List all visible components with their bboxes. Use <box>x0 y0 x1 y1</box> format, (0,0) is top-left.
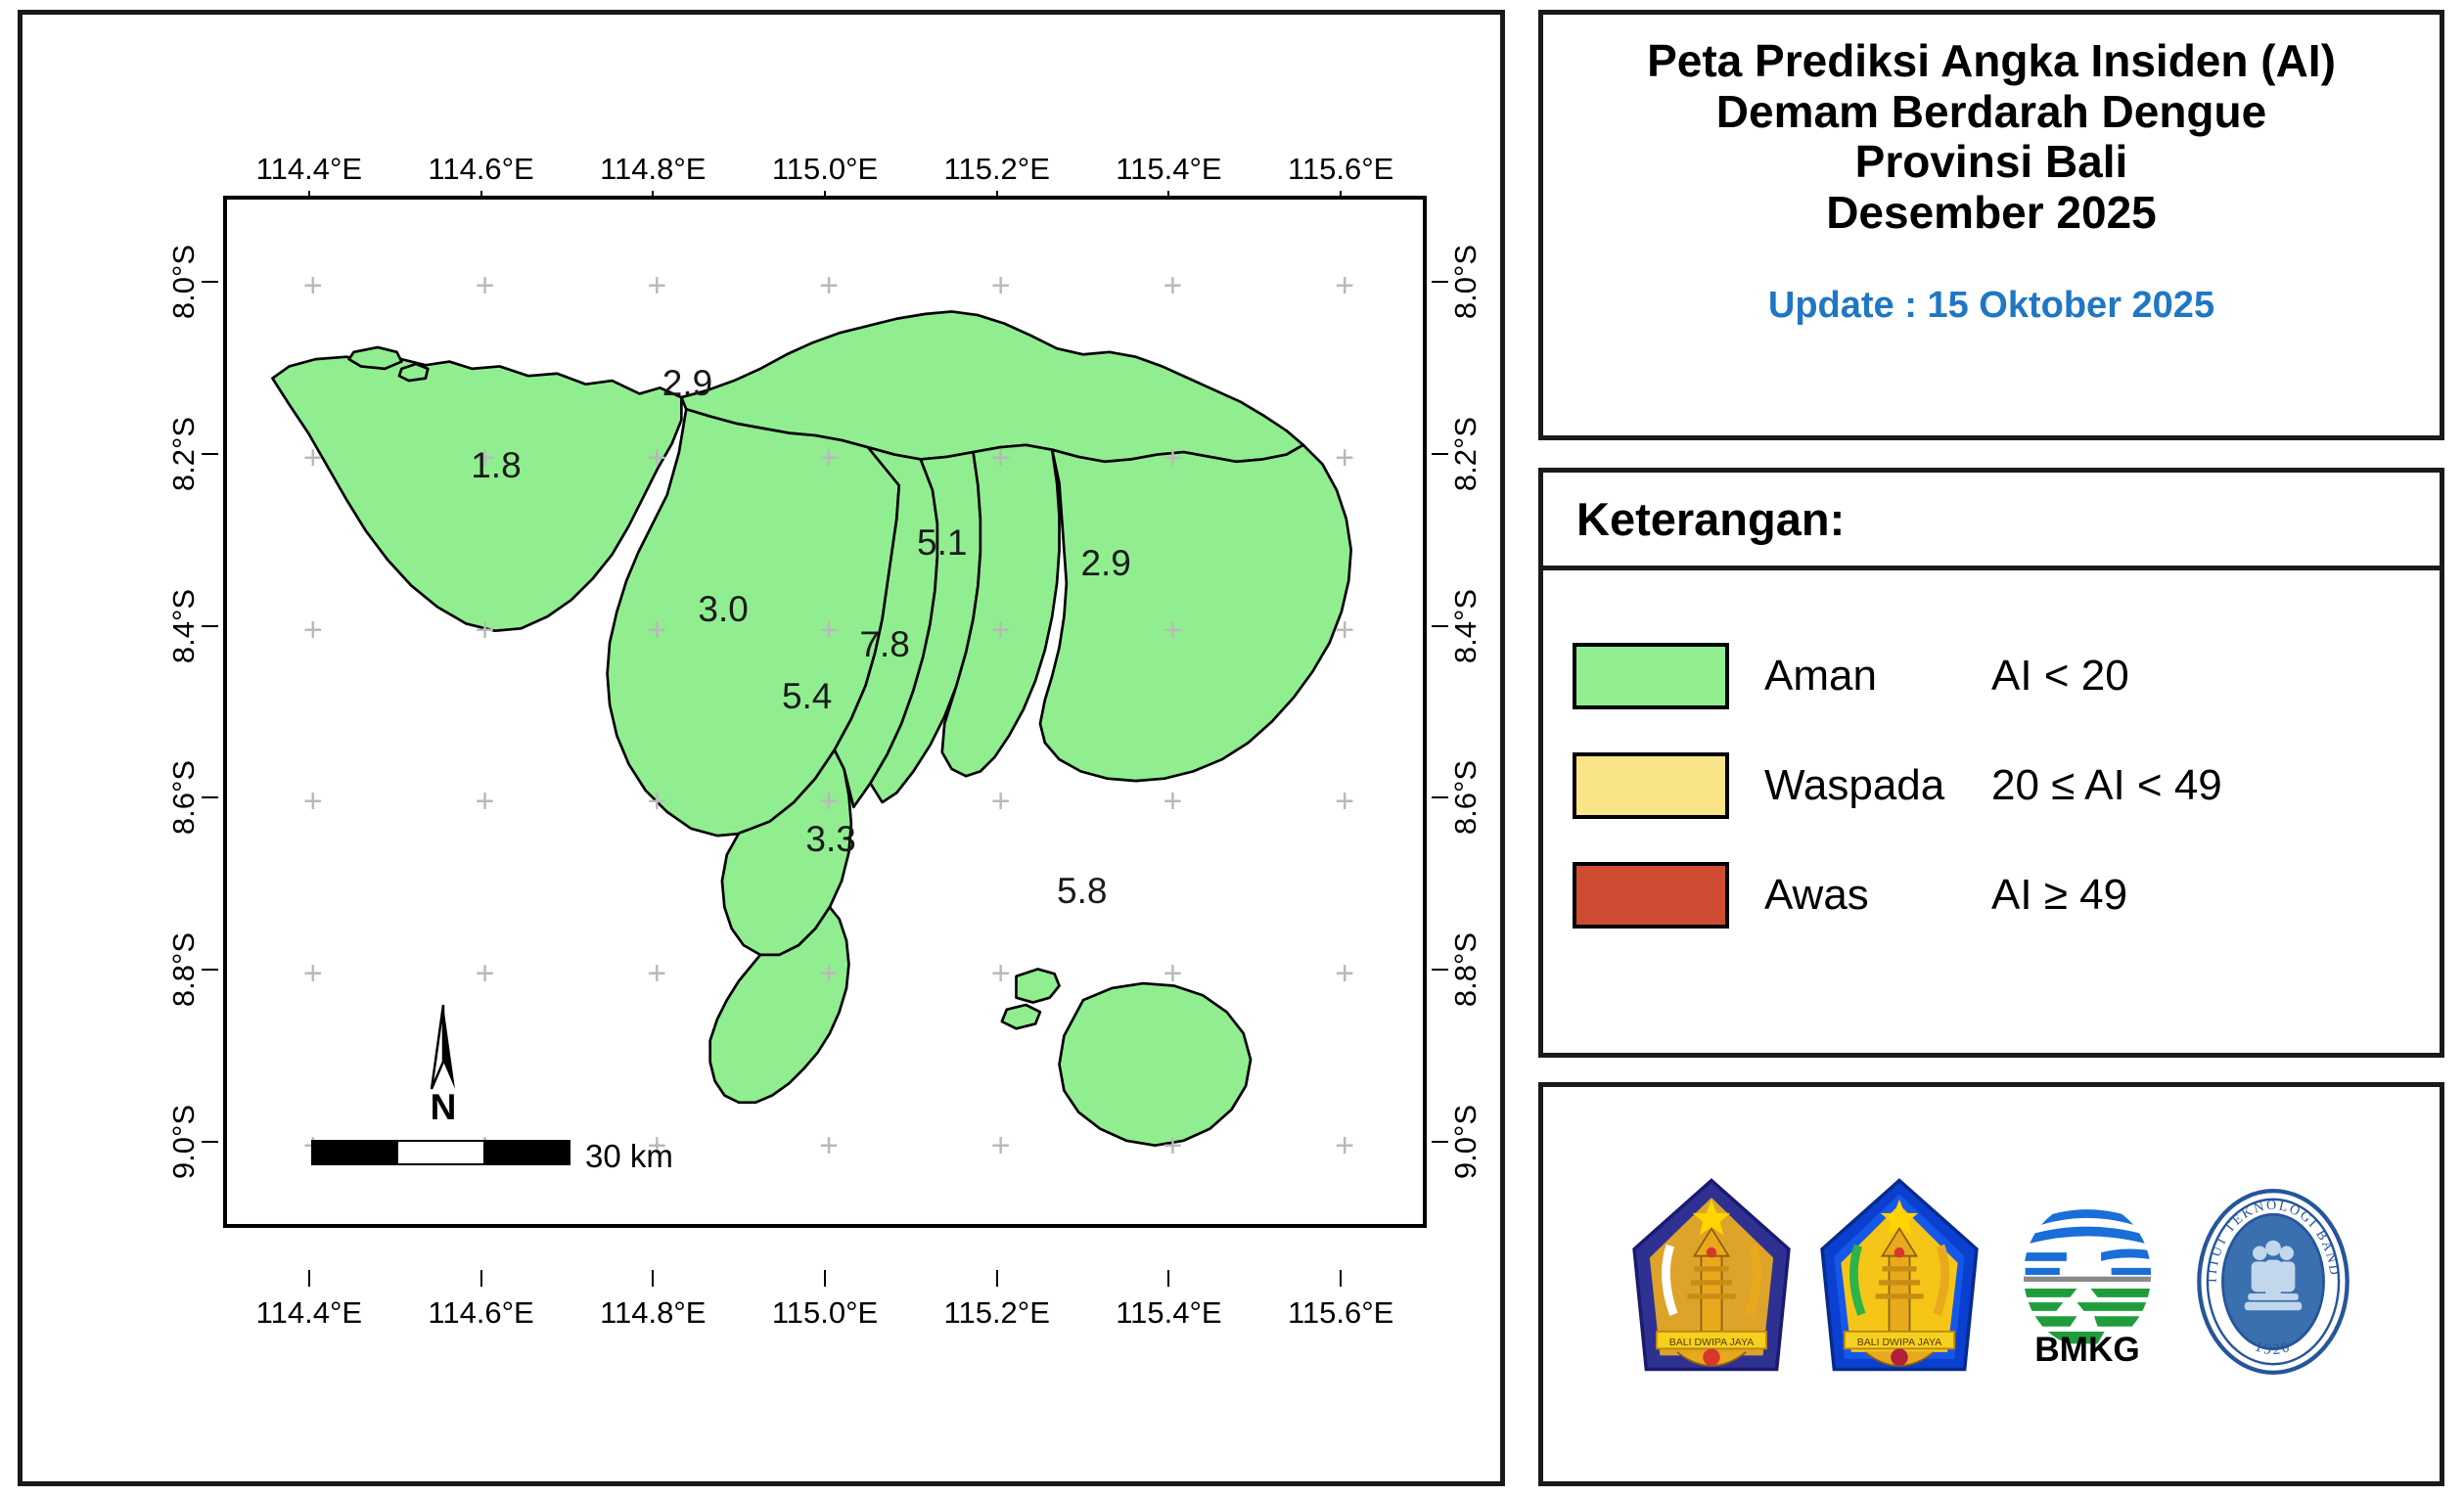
lon-tick-label: 114.6°E <box>428 152 533 187</box>
region-value-label: 2.9 <box>1080 543 1130 584</box>
lat-tick <box>202 796 218 798</box>
bali-emblem-icon: BALI DWIPA JAYA <box>1625 1177 1798 1386</box>
legend-row: Waspada20 ≤ AI < 49 <box>1573 731 2440 840</box>
lon-tick <box>824 1270 826 1287</box>
lat-tick <box>202 281 218 283</box>
scale-bar-segment <box>313 1142 398 1163</box>
north-arrow-icon <box>409 1003 478 1093</box>
lon-tick-label: 115.0°E <box>772 1295 878 1331</box>
north-arrow-label: N <box>431 1087 457 1128</box>
lat-tick <box>202 969 218 971</box>
lon-tick <box>480 1270 482 1287</box>
legend-threshold-label: AI ≥ 49 <box>1991 871 2127 920</box>
page-title-line-3: Provinsi Bali <box>1855 137 2128 188</box>
legend-class-label: Aman <box>1764 652 1991 701</box>
bali-emblem-icon: BALI DWIPA JAYA <box>1813 1177 1985 1386</box>
latitude-axis-left: 8.0°S8.2°S8.4°S8.6°S8.8°S9.0°S <box>150 196 218 1228</box>
region-value-label: 7.8 <box>859 624 909 665</box>
logo-box: BALI DWIPA JAYA <box>1538 1082 2444 1486</box>
lon-tick-label: 114.8°E <box>600 152 706 187</box>
region-nusa-penida <box>1060 983 1252 1146</box>
title-box: Peta Prediksi Angka Insiden (AI) Demam B… <box>1538 10 2444 440</box>
lat-tick-label: 8.6°S <box>166 760 202 835</box>
lat-tick-label: 8.8°S <box>1448 932 1483 1007</box>
logo-bmkg: BMKG <box>2001 1199 2173 1370</box>
lon-tick-label: 115.4°E <box>1116 152 1221 187</box>
region-karangasem <box>1040 445 1351 781</box>
legend-heading-text: Keterangan: <box>1576 492 1845 546</box>
legend-items: AmanAI < 20Waspada20 ≤ AI < 49AwasAI ≥ 4… <box>1543 570 2440 950</box>
lon-tick <box>652 1270 654 1287</box>
page-title-line-2: Demam Berdarah Dengue <box>1716 87 2266 138</box>
region-value-label: 2.9 <box>662 363 712 404</box>
lat-tick <box>1432 969 1448 971</box>
dengue-incidence-map-page: 114.4°E114.6°E114.8°E115.0°E115.2°E115.4… <box>0 0 2464 1496</box>
lon-tick-label: 115.4°E <box>1116 1295 1221 1331</box>
page-title-line-4: Desember 2025 <box>1826 188 2157 239</box>
region-value-label: 5.8 <box>1057 871 1107 912</box>
legend-class-label: Waspada <box>1764 761 1991 810</box>
update-timestamp: Update : 15 Oktober 2025 <box>1768 285 2214 327</box>
lon-tick <box>996 1270 998 1287</box>
lat-tick-label: 8.2°S <box>1448 417 1483 491</box>
lat-tick-label: 8.0°S <box>1448 245 1483 319</box>
lat-tick-label: 8.8°S <box>166 932 202 1007</box>
lat-tick <box>202 1141 218 1143</box>
lat-tick <box>1432 453 1448 455</box>
region-nusa-ceningan <box>1002 1005 1040 1028</box>
latitude-axis-right: 8.0°S8.2°S8.4°S8.6°S8.8°S9.0°S <box>1432 196 1500 1228</box>
lon-tick-label: 115.2°E <box>944 152 1050 187</box>
longitude-axis-bottom: 114.4°E114.6°E114.8°E115.0°E115.2°E115.4… <box>223 1270 1427 1313</box>
legend-color-swatch <box>1573 862 1729 929</box>
lon-tick-label: 115.0°E <box>772 152 878 187</box>
north-arrow: N <box>409 1003 478 1130</box>
legend-class-label: Awas <box>1764 871 1991 920</box>
legend-row: AmanAI < 20 <box>1573 621 2440 731</box>
logo-pemprov-bali-2: BALI DWIPA JAYA <box>1813 1177 1985 1391</box>
legend-color-swatch <box>1573 752 1729 819</box>
lon-tick-label: 114.8°E <box>600 1295 706 1331</box>
lat-tick <box>1432 1141 1448 1143</box>
region-value-label: 5.4 <box>782 676 832 717</box>
lat-tick-label: 8.4°S <box>166 588 202 662</box>
region-nusa-lembongan <box>1017 969 1060 1002</box>
legend-color-swatch <box>1573 643 1729 709</box>
lon-tick-label: 114.4°E <box>256 1295 362 1331</box>
region-value-label: 3.0 <box>698 589 748 630</box>
lat-tick-label: 9.0°S <box>1448 1105 1483 1179</box>
region-value-label: 1.8 <box>471 445 521 486</box>
lat-tick <box>1432 796 1448 798</box>
svg-text:BALI DWIPA JAYA: BALI DWIPA JAYA <box>1669 1337 1755 1348</box>
region-value-label: 3.3 <box>805 819 855 860</box>
scale-bar-segment <box>483 1142 569 1163</box>
svg-text:BALI DWIPA JAYA: BALI DWIPA JAYA <box>1857 1337 1942 1348</box>
page-title-line-1: Peta Prediksi Angka Insiden (AI) <box>1647 36 2336 87</box>
lon-tick-label: 115.6°E <box>1288 152 1393 187</box>
legend-row: AwasAI ≥ 49 <box>1573 840 2440 950</box>
itb-seal-icon: INSTITUT TEKNOLOGI BANDUNG · 1920 · <box>2189 1186 2357 1378</box>
lat-tick-label: 8.6°S <box>1448 760 1483 835</box>
lat-tick <box>202 453 218 455</box>
legend-threshold-label: AI < 20 <box>1991 652 2129 701</box>
legend-threshold-label: 20 ≤ AI < 49 <box>1991 761 2222 810</box>
lon-tick-label: 115.6°E <box>1288 1295 1393 1331</box>
lon-tick-label: 115.2°E <box>944 1295 1050 1331</box>
info-column: Peta Prediksi Angka Insiden (AI) Demam B… <box>1538 10 2444 1486</box>
lon-tick <box>1340 1270 1342 1287</box>
logo-pemprov-bali-1: BALI DWIPA JAYA <box>1625 1177 1798 1391</box>
bmkg-wordmark: BMKG <box>2034 1331 2140 1365</box>
longitude-axis-top: 114.4°E114.6°E114.8°E115.0°E115.2°E115.4… <box>223 152 1427 191</box>
lat-tick <box>202 625 218 627</box>
lat-tick-label: 9.0°S <box>166 1105 202 1179</box>
lat-tick-label: 8.2°S <box>166 417 202 491</box>
region-value-label: 5.1 <box>917 522 967 564</box>
logo-itb: INSTITUT TEKNOLOGI BANDUNG · 1920 · <box>2189 1186 2357 1383</box>
lon-tick-label: 114.6°E <box>428 1295 533 1331</box>
bmkg-icon: BMKG <box>2001 1199 2173 1365</box>
lon-tick-label: 114.4°E <box>256 152 362 187</box>
lat-tick <box>1432 625 1448 627</box>
scale-bar <box>311 1140 570 1165</box>
lon-tick <box>1167 1270 1169 1287</box>
legend-box: Keterangan: AmanAI < 20Waspada20 ≤ AI < … <box>1538 468 2444 1058</box>
scale-bar-label: 30 km <box>585 1138 673 1175</box>
lat-tick <box>1432 281 1448 283</box>
region-jembrana <box>272 357 681 631</box>
lat-tick-label: 8.4°S <box>1448 588 1483 662</box>
lon-tick <box>308 1270 310 1287</box>
map-panel: 114.4°E114.6°E114.8°E115.0°E115.2°E115.4… <box>18 10 1505 1486</box>
lat-tick-label: 8.0°S <box>166 245 202 319</box>
legend-header: Keterangan: <box>1543 473 2440 570</box>
scale-bar-segment <box>398 1142 483 1163</box>
map-plot-frame: ++++++++++++++++++++++++++++++++++++++++… <box>223 196 1427 1228</box>
